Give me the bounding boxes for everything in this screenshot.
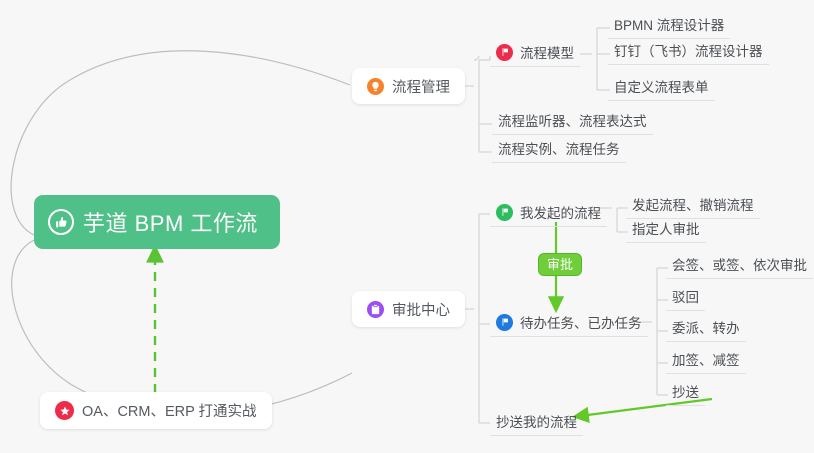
topic-process-instance[interactable]: 流程实例、流程任务 bbox=[492, 136, 626, 163]
topic-label: 驳回 bbox=[672, 286, 699, 306]
topic-process-listener[interactable]: 流程监听器、流程表达式 bbox=[492, 108, 653, 135]
approval-tag-label: 审批 bbox=[547, 257, 573, 272]
flag-icon bbox=[496, 204, 513, 221]
link-pm-to-model bbox=[479, 56, 490, 60]
topic-label: 流程实例、流程任务 bbox=[498, 138, 620, 158]
thumbs-up-icon bbox=[48, 209, 74, 235]
topic-countersign[interactable]: 会签、或签、依次审批 bbox=[666, 252, 813, 279]
topic-label: 会签、或签、依次审批 bbox=[672, 254, 807, 274]
topic-cc-to-me-flows[interactable]: 抄送我的流程 bbox=[490, 409, 583, 436]
topic-label: 指定人审批 bbox=[632, 218, 700, 238]
link-pm-child-1 bbox=[474, 56, 479, 60]
branch-label: 审批中心 bbox=[392, 299, 450, 320]
topic-delegate-transfer[interactable]: 委派、转办 bbox=[666, 315, 746, 342]
topic-label: 抄送 bbox=[672, 381, 699, 401]
flag-icon bbox=[496, 44, 513, 61]
topic-todo-done-tasks[interactable]: 待办任务、已办任务 bbox=[490, 310, 648, 337]
topic-label: 加签、减签 bbox=[672, 349, 740, 369]
topic-label: 自定义流程表单 bbox=[614, 76, 709, 96]
mindmap-canvas: 芋道 BPM 工作流 流程管理 审批中心 流程模型 流程监听器、流程表达式 bbox=[0, 0, 814, 453]
topic-label: 委派、转办 bbox=[672, 317, 740, 337]
star-icon bbox=[55, 401, 74, 420]
link-root-to-approval-center bbox=[12, 240, 352, 415]
topic-label: 钉钉（飞书）流程设计器 bbox=[614, 40, 763, 60]
topic-start-cancel-flow[interactable]: 发起流程、撤销流程 bbox=[626, 192, 760, 219]
topic-assignee-approval[interactable]: 指定人审批 bbox=[626, 216, 706, 243]
topic-dingtalk-designer[interactable]: 钉钉（飞书）流程设计器 bbox=[608, 38, 769, 65]
topic-bpmn-designer[interactable]: BPMN 流程设计器 bbox=[608, 12, 730, 39]
clipboard-icon bbox=[367, 301, 384, 318]
topic-process-model[interactable]: 流程模型 bbox=[490, 40, 580, 67]
integration-card[interactable]: OA、CRM、ERP 打通实战 bbox=[40, 392, 272, 429]
lightbulb-icon bbox=[367, 78, 384, 95]
topic-label: 流程监听器、流程表达式 bbox=[498, 110, 647, 130]
topic-label: 流程模型 bbox=[520, 42, 574, 62]
topic-label: 发起流程、撤销流程 bbox=[632, 194, 754, 214]
topic-add-remove-sign[interactable]: 加签、减签 bbox=[666, 347, 746, 374]
topic-reject[interactable]: 驳回 bbox=[666, 284, 705, 311]
approval-tag: 审批 bbox=[538, 253, 582, 276]
topic-custom-form[interactable]: 自定义流程表单 bbox=[608, 74, 715, 101]
branch-process-management[interactable]: 流程管理 bbox=[352, 68, 465, 104]
topic-label: BPMN 流程设计器 bbox=[614, 14, 724, 34]
topic-my-initiated-flows[interactable]: 我发起的流程 bbox=[490, 200, 607, 227]
topic-cc[interactable]: 抄送 bbox=[666, 379, 705, 406]
flag-icon bbox=[496, 314, 513, 331]
root-node[interactable]: 芋道 BPM 工作流 bbox=[34, 195, 280, 249]
topic-label: 我发起的流程 bbox=[520, 202, 601, 222]
branch-label: 流程管理 bbox=[392, 76, 450, 97]
integration-card-label: OA、CRM、ERP 打通实战 bbox=[82, 400, 257, 421]
topic-label: 待办任务、已办任务 bbox=[520, 312, 642, 332]
root-label: 芋道 BPM 工作流 bbox=[83, 206, 258, 238]
topic-label: 抄送我的流程 bbox=[496, 411, 577, 431]
branch-approval-center[interactable]: 审批中心 bbox=[352, 291, 465, 327]
